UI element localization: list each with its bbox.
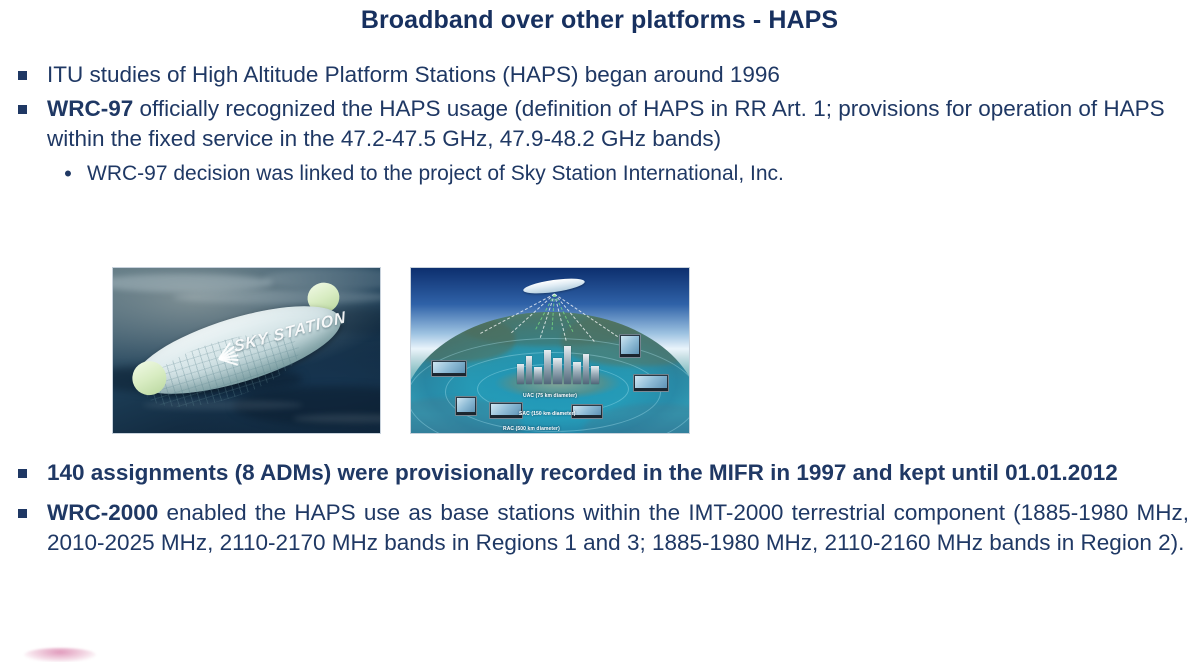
page-title: Broadband over other platforms - HAPS xyxy=(0,6,1199,35)
figure-row: SKY STATION xyxy=(0,267,1199,437)
bullet-text: WRC-97 officially recognized the HAPS us… xyxy=(47,94,1189,154)
subbullet-item-sky-station: • WRC-97 decision was linked to the proj… xyxy=(0,160,1199,188)
device-laptop-right xyxy=(633,374,669,392)
slide-body: ITU studies of High Altitude Platform St… xyxy=(0,60,1199,187)
sky-station-airship-photo: SKY STATION xyxy=(112,267,381,434)
device-laptop-left xyxy=(431,360,467,377)
bullet-bold-lead: WRC-97 xyxy=(47,96,133,121)
device-tablet-lower-left xyxy=(455,396,477,416)
bullet-body-text: officially recognized the HAPS usage (de… xyxy=(47,96,1165,151)
bullet-item-wrc2000: WRC-2000 enabled the HAPS use as base st… xyxy=(0,498,1199,558)
ring-label-sac: SAC (150 km diameter) xyxy=(519,411,576,417)
bullet-body-text: ITU studies of High Altitude Platform St… xyxy=(47,62,780,87)
square-bullet-icon xyxy=(18,509,27,518)
bullet-bold-lead: WRC-2000 xyxy=(47,500,158,525)
haps-coverage-diagram: UAC (75 km diameter) SAC (150 km diamete… xyxy=(410,267,690,434)
square-bullet-icon xyxy=(18,105,27,114)
bullet-text: WRC-2000 enabled the HAPS use as base st… xyxy=(47,498,1189,558)
bullet-item-140-assignments: 140 assignments (8 ADMs) were provisiona… xyxy=(0,458,1199,488)
dot-bullet-icon: • xyxy=(62,160,74,188)
bullet-body-text: enabled the HAPS use as base stations wi… xyxy=(47,500,1189,555)
device-laptop-center xyxy=(489,402,523,419)
square-bullet-icon xyxy=(18,71,27,80)
bullet-item-itu-studies: ITU studies of High Altitude Platform St… xyxy=(0,60,1199,90)
ring-label-uac: UAC (75 km diameter) xyxy=(523,393,577,399)
bullet-item-wrc97: WRC-97 officially recognized the HAPS us… xyxy=(0,94,1199,154)
slide-body-bottom: 140 assignments (8 ADMs) were provisiona… xyxy=(0,458,1199,558)
next-bullet-artifact xyxy=(24,648,96,662)
haps-platform-airship-icon xyxy=(523,278,585,294)
city-skyline xyxy=(515,340,601,384)
square-bullet-icon xyxy=(18,469,27,478)
subbullet-text: WRC-97 decision was linked to the projec… xyxy=(87,160,1189,187)
ring-label-rac: RAC (500 km diameter) xyxy=(503,426,560,432)
device-terminal-far-right xyxy=(619,334,641,358)
bullet-text: 140 assignments (8 ADMs) were provisiona… xyxy=(47,458,1189,488)
bullet-text: ITU studies of High Altitude Platform St… xyxy=(47,60,1189,90)
